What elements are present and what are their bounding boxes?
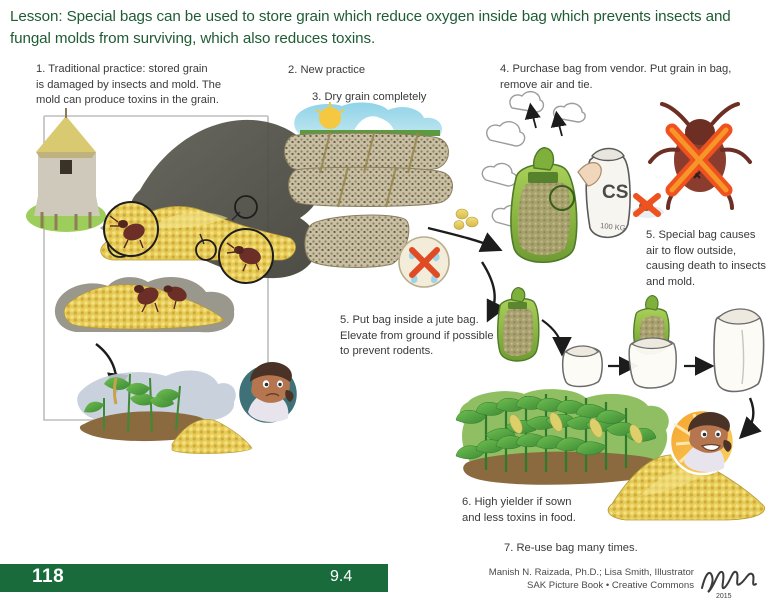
vendor-hand xyxy=(578,163,601,186)
jute-bag-closed xyxy=(714,309,764,392)
credits-text: Manish N. Raizada, Ph.D.; Lisa Smith, Il… xyxy=(489,566,694,592)
svg-text:2015: 2015 xyxy=(716,593,732,600)
step-7-caption: 7. Re-use bag many times. xyxy=(504,541,714,557)
pics-sack-label: CS xyxy=(602,182,628,203)
dead-insect-crossed-out xyxy=(648,104,752,210)
loose-kernels xyxy=(454,209,478,229)
arrow-to-bag xyxy=(428,228,496,248)
arrow-down-left xyxy=(96,344,116,388)
jute-bag-with-green-bag xyxy=(629,296,676,388)
magnified-weevil-2 xyxy=(196,229,273,283)
drying-sky xyxy=(294,103,442,136)
hermetic-green-bag xyxy=(511,148,577,263)
illustrator-signature: 2015 xyxy=(702,572,756,600)
step-5-air-caption: 5. Special bag causes air to flow outsid… xyxy=(646,228,776,290)
grain-drying-panel xyxy=(285,102,497,316)
step-1-caption: 1. Traditional practice: stored grain is… xyxy=(36,62,266,109)
arrow-down-mid xyxy=(482,262,495,316)
damaged-grain-pile xyxy=(101,206,296,260)
maize-rows xyxy=(456,394,656,472)
mold-cloud xyxy=(131,120,322,278)
step-6-caption: 6. High yielder if sown and less toxins … xyxy=(462,495,652,526)
red-cross-big xyxy=(672,130,726,190)
magnified-weevil-1 xyxy=(100,200,158,257)
field-backdrop xyxy=(460,389,669,479)
section-number: 9.4 xyxy=(330,568,352,586)
escaping-air-clouds xyxy=(482,92,585,228)
worried-farmer-portrait xyxy=(238,362,298,424)
drying-mat-loose xyxy=(305,215,409,267)
small-dead-insect-crossed-out xyxy=(632,196,664,218)
step-5-jute-caption: 5. Put bag inside a jute bag. Elevate fr… xyxy=(340,313,520,360)
pics-sack: CS 100 KG xyxy=(586,149,630,238)
lesson-title: Lesson: Special bags can be used to stor… xyxy=(10,6,768,50)
no-moisture-symbol xyxy=(399,237,449,287)
moldy-grain-with-insects xyxy=(55,277,234,332)
step-4-caption: 4. Purchase bag from vendor. Put grain i… xyxy=(500,62,762,93)
step-2-caption: 2. New practice xyxy=(288,63,448,79)
traditional-practice-panel xyxy=(26,108,322,454)
lesson-page: Lesson: Special bags can be used to stor… xyxy=(0,0,776,600)
page-number: 118 xyxy=(32,566,64,588)
svg-text:100 KG: 100 KG xyxy=(600,221,626,233)
small-grain-pile xyxy=(172,419,252,453)
step-3-caption: 3. Dry grain completely xyxy=(312,90,492,106)
jute-bag-empty-1 xyxy=(563,346,602,387)
jute-bag-sequence xyxy=(498,288,764,434)
magnified-weevil-3 xyxy=(232,196,257,220)
poor-maize-field xyxy=(77,370,236,441)
happy-farmer-portrait xyxy=(670,410,734,474)
granary-on-stilts xyxy=(26,108,106,232)
grain-drying-mats xyxy=(285,133,453,207)
